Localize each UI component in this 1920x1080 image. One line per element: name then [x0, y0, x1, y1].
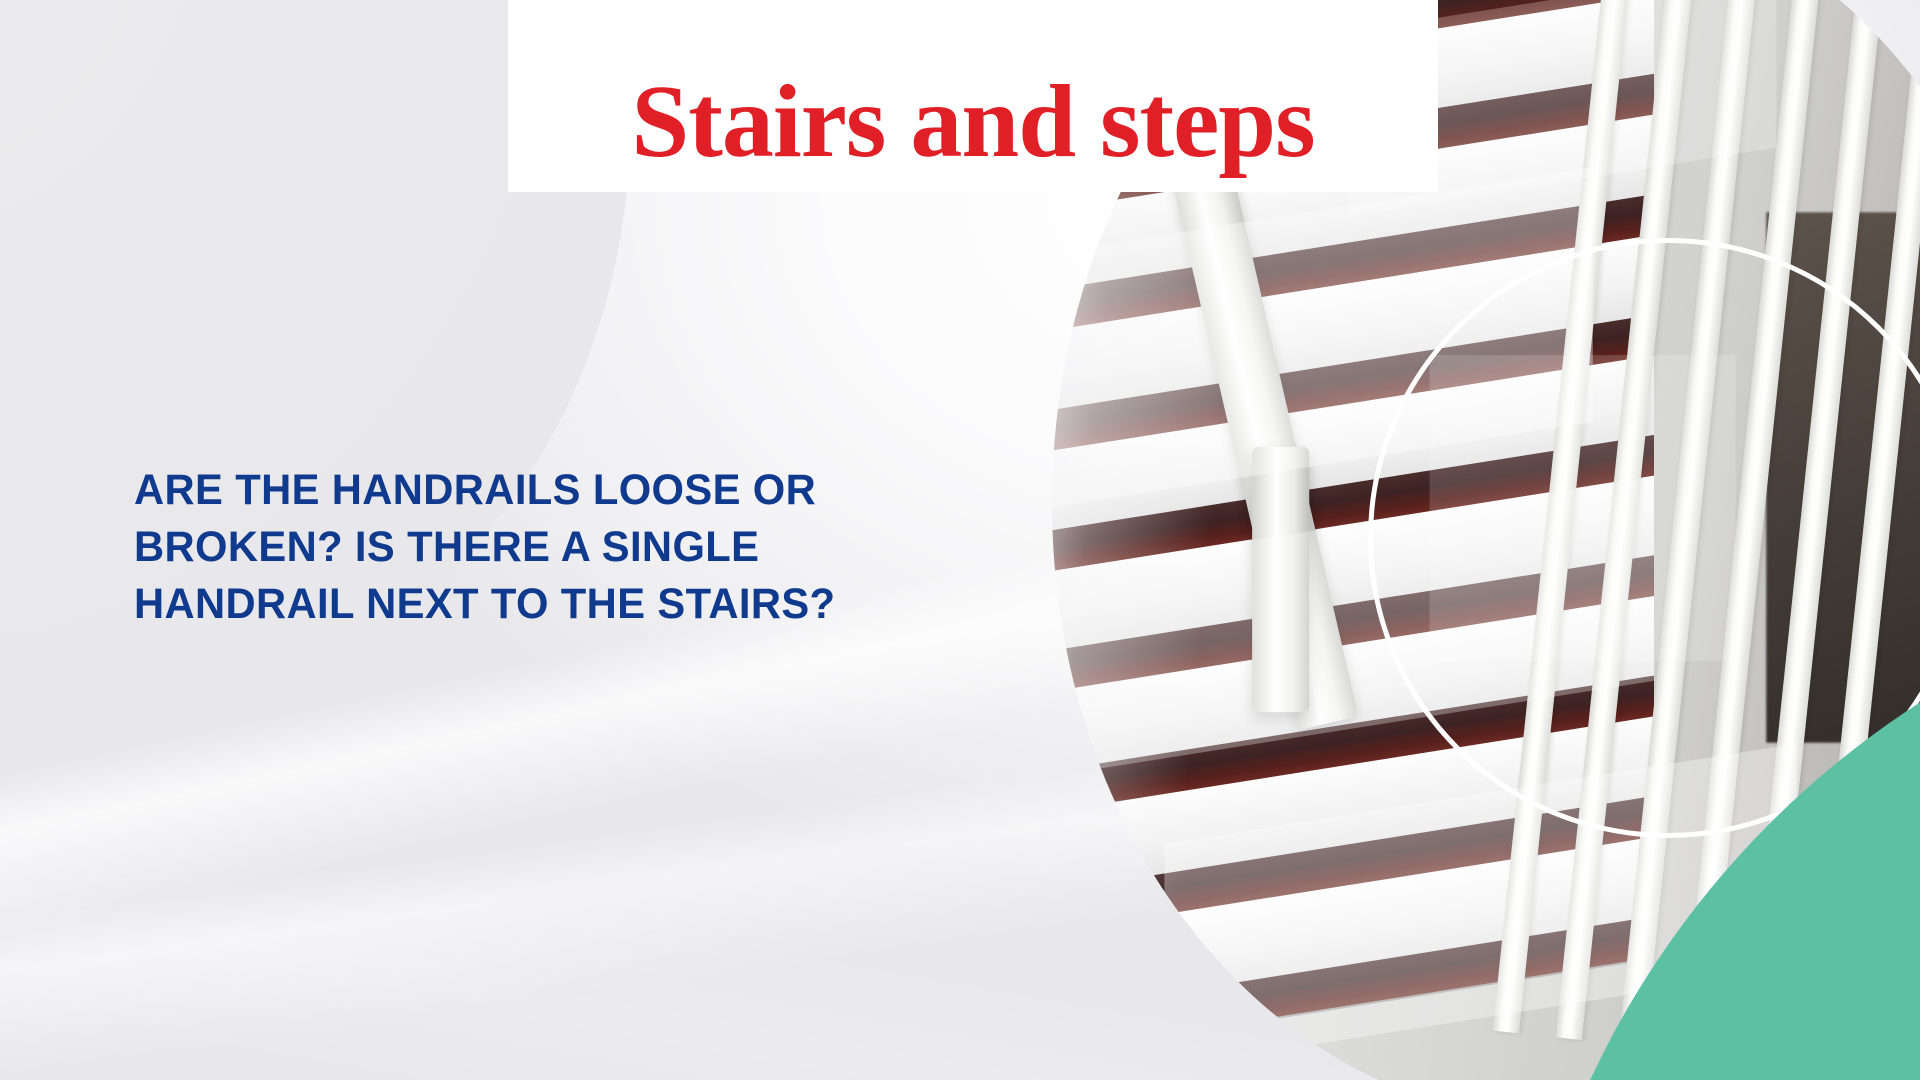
page-title: Stairs and steps: [631, 70, 1314, 174]
title-box: Stairs and steps: [508, 0, 1438, 192]
question-line-1: ARE THE HANDRAILS LOOSE OR: [134, 462, 1007, 519]
question-line-3: HANDRAIL NEXT TO THE STAIRS?: [134, 576, 1007, 633]
newel-post: [1252, 447, 1309, 712]
presentation-slide: Stairs and steps ARE THE HANDRAILS LOOSE…: [0, 0, 1920, 1080]
question-text: ARE THE HANDRAILS LOOSE OR BROKEN? IS TH…: [134, 462, 1007, 632]
question-line-2: BROKEN? IS THERE A SINGLE: [134, 519, 1007, 576]
